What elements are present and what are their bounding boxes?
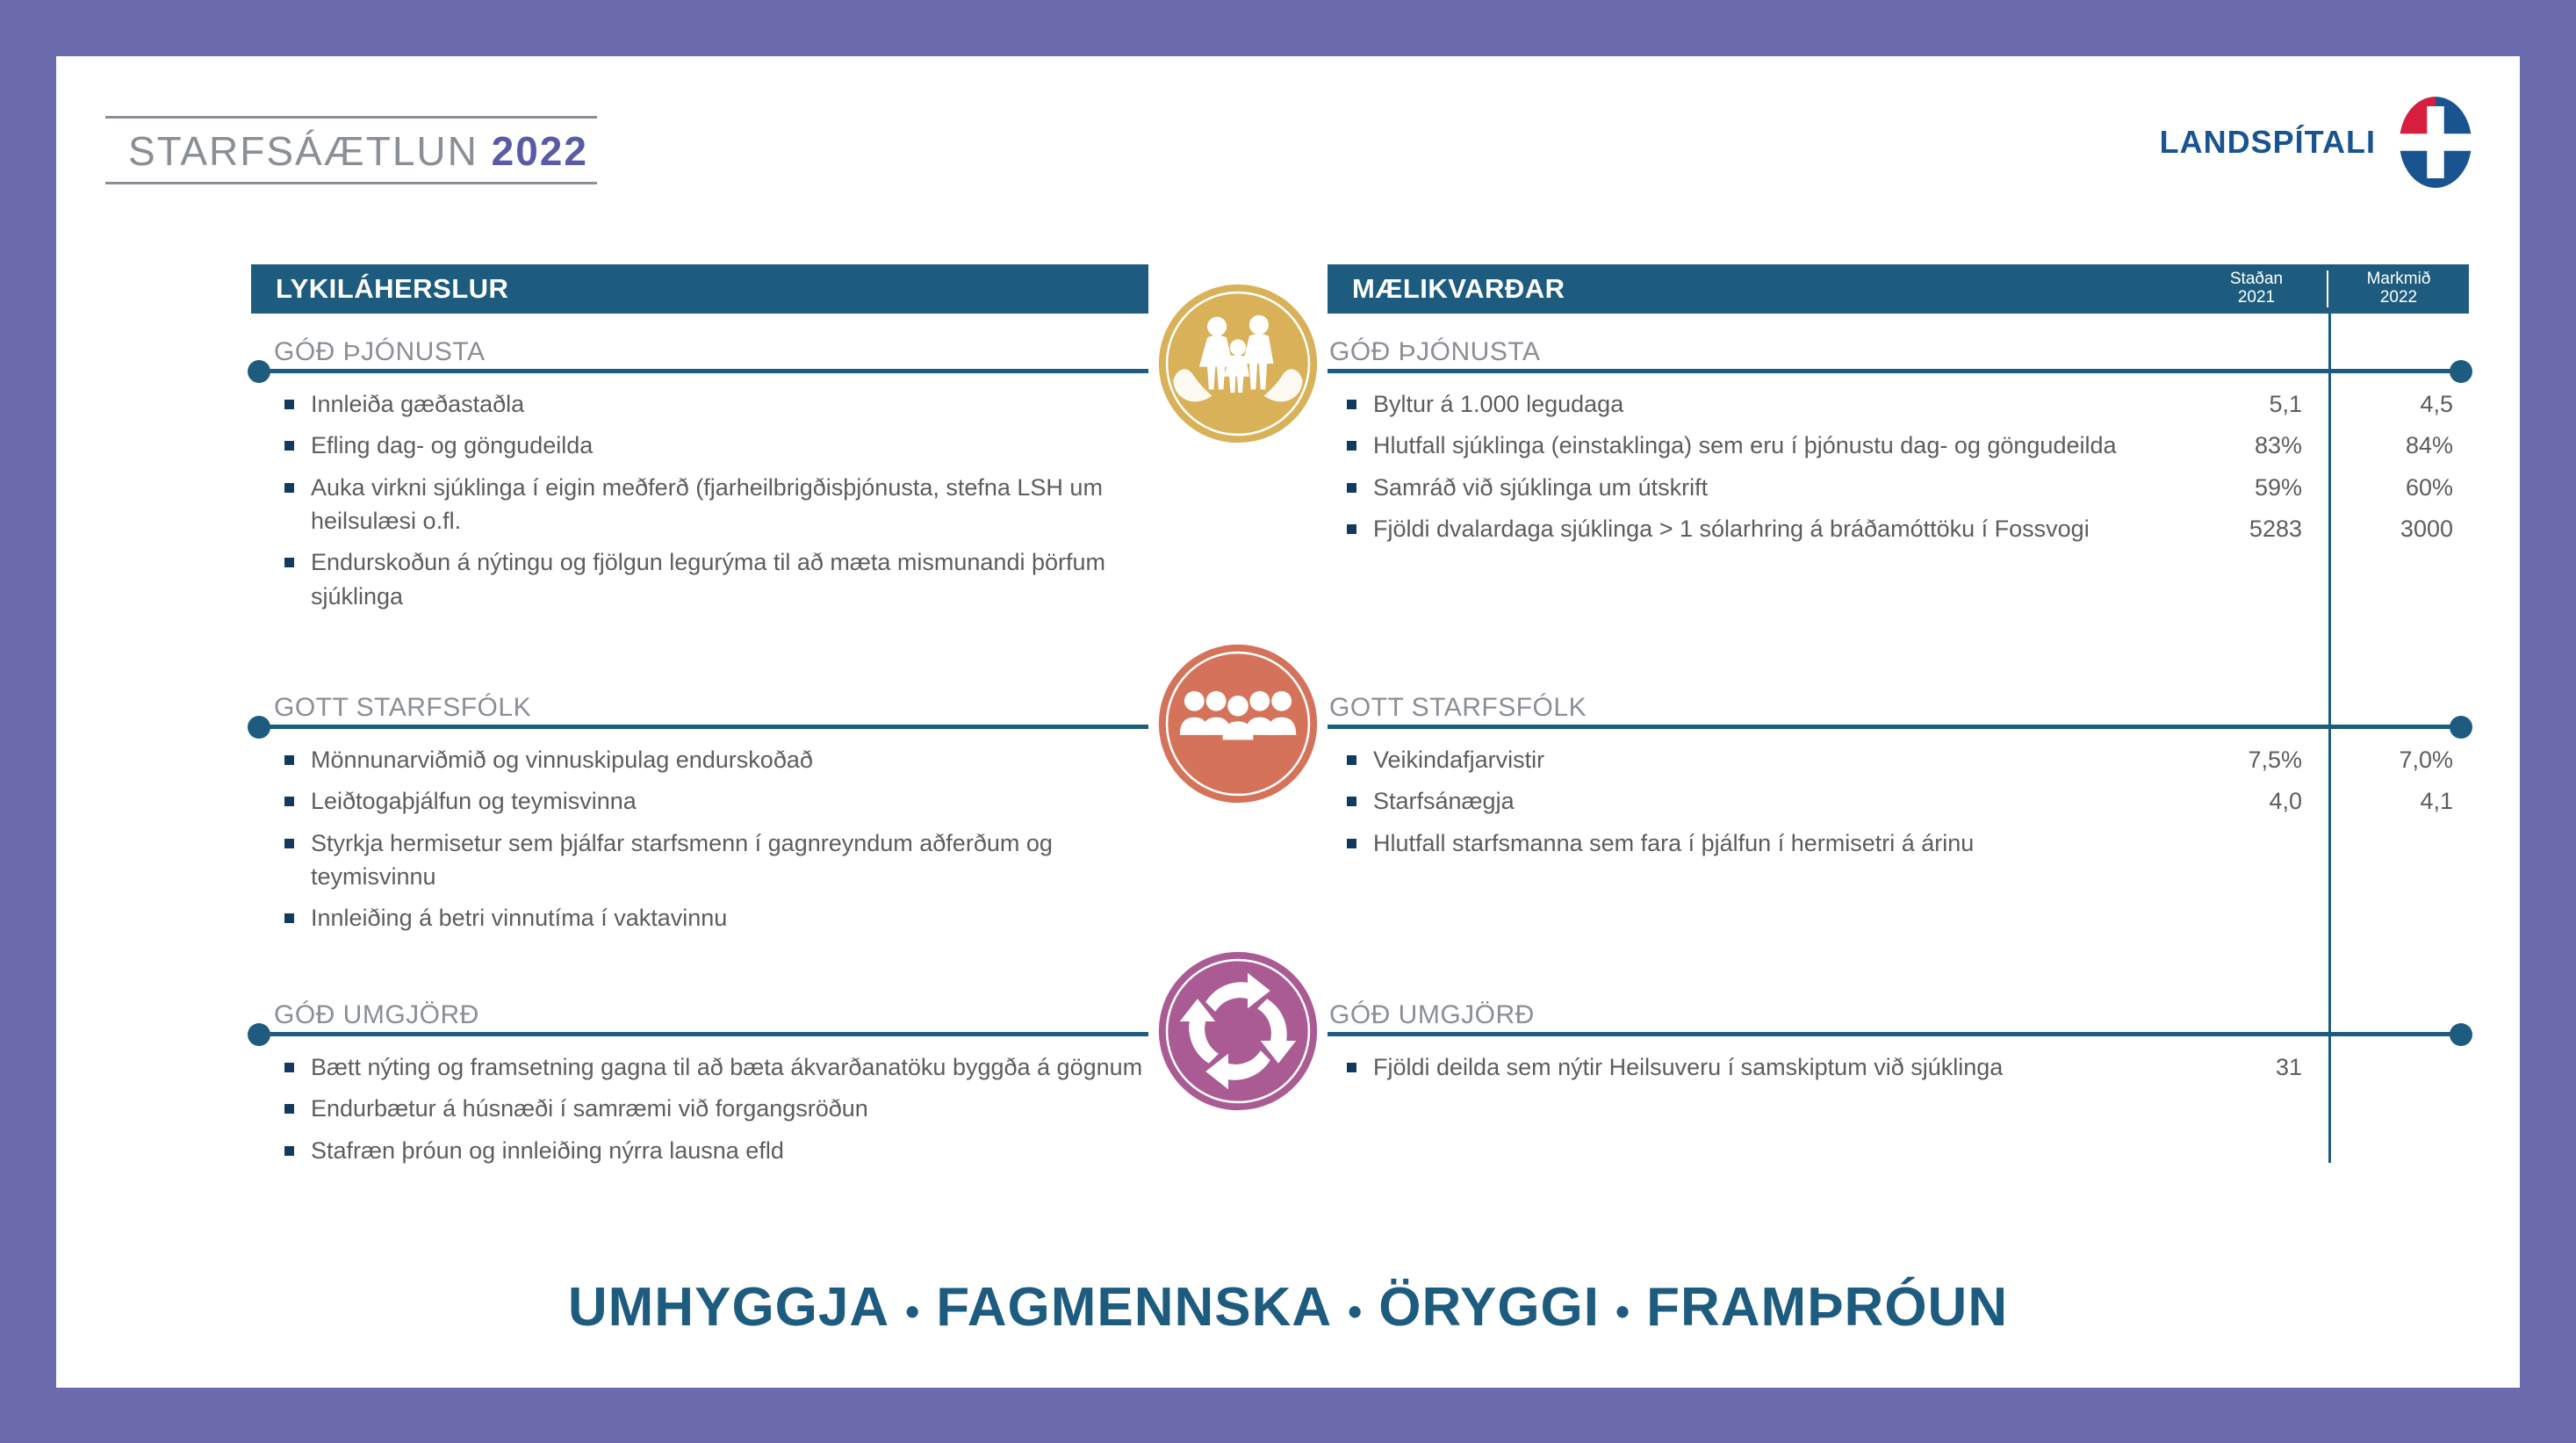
title-main-text: STARFSÁÆTLUN	[128, 128, 492, 174]
column-header-target-line2: 2022	[2328, 289, 2469, 307]
landspitali-cross-icon	[2388, 95, 2483, 190]
column-header-status-line2: 2021	[2186, 289, 2327, 307]
landspitali-logo: LANDSPÍTALI	[2160, 95, 2483, 190]
left-panel-header-bar: LYKILÁHERSLUR	[251, 264, 1148, 314]
list-item: Endurskoðun á nýtingu og fjölgun legurým…	[251, 545, 1148, 613]
metric-status-2021: 4,0	[2188, 784, 2302, 818]
section-rule	[1328, 369, 2469, 373]
logo-wordmark: LANDSPÍTALI	[2160, 124, 2376, 161]
left-section-heading: GOTT STARFSFÓLK	[251, 693, 1148, 723]
list-item: Mönnunarviðmið og vinnuskipulag endursko…	[251, 743, 1148, 776]
left-panel-title: LYKILÁHERSLUR	[251, 273, 1148, 305]
section-rule	[251, 1032, 1148, 1036]
column-header-status-line1: Staðan	[2186, 271, 2327, 289]
metric-status-2021: 31	[2188, 1050, 2302, 1084]
metric-target-2022: 7,0%	[2339, 743, 2453, 776]
metric-row: Hlutfall starfsmanna sem fara í þjálfun …	[1328, 826, 2469, 860]
slide-frame: STARFSÁÆTLUN 2022 LANDSPÍTALI LYKILÁHERS…	[0, 0, 2576, 1443]
rule-dot-right	[2450, 716, 2472, 739]
page-title: STARFSÁÆTLUN 2022	[105, 116, 597, 184]
left-section-good-service: GÓÐ ÞJÓNUSTA Innleiða gæðastaðla Efling …	[251, 337, 1148, 621]
metric-label: Fjöldi deilda sem nýtir Heilsuveru í sam…	[1373, 1054, 2003, 1080]
metric-target-2022: 60%	[2339, 471, 2453, 504]
metric-row: Fjöldi deilda sem nýtir Heilsuveru í sam…	[1328, 1050, 2469, 1084]
rule-dot-left	[248, 716, 270, 739]
value-word: ÖRYGGI	[1378, 1277, 1600, 1338]
slide-canvas: STARFSÁÆTLUN 2022 LANDSPÍTALI LYKILÁHERS…	[56, 56, 2520, 1388]
banner-separator: •	[889, 1288, 936, 1334]
metric-list: Byltur á 1.000 legudaga 5,1 4,5 Hlutfall…	[1328, 387, 2469, 545]
list-item: Leiðtogaþjálfun og teymisvinna	[251, 784, 1148, 818]
value-word: FAGMENNSKA	[936, 1277, 1332, 1338]
metric-target-2022: 4,1	[2339, 784, 2453, 818]
section-rule	[1328, 1032, 2469, 1036]
metric-status-2021: 7,5%	[2188, 743, 2302, 776]
left-item-list: Innleiða gæðastaðla Efling dag- og göngu…	[251, 387, 1148, 613]
banner-separator: •	[1332, 1288, 1378, 1334]
section-rule	[251, 725, 1148, 729]
metric-list: Fjöldi deilda sem nýtir Heilsuveru í sam…	[1328, 1050, 2469, 1084]
metric-label: Byltur á 1.000 legudaga	[1373, 391, 1623, 417]
metric-status-2021: 5283	[2188, 512, 2302, 545]
right-section-heading: GÓÐ ÞJÓNUSTA	[1328, 337, 2469, 367]
metric-status-2021: 59%	[2188, 471, 2302, 504]
metric-target-2022: 3000	[2339, 512, 2453, 545]
metric-label: Starfsánægja	[1373, 788, 1515, 814]
metric-label: Hlutfall sjúklinga (einstaklinga) sem er…	[1373, 432, 2117, 458]
rule-dot-left	[248, 1023, 270, 1046]
section-rule	[251, 369, 1148, 373]
column-header-status: Staðan 2021	[2186, 271, 2327, 307]
metric-label: Veikindafjarvistir	[1373, 747, 1544, 773]
right-panel-header-bar: MÆLIKVARÐAR Staðan 2021 Markmið 2022	[1328, 264, 2469, 314]
family-in-hands-icon	[1157, 283, 1319, 444]
right-section-heading: GOTT STARFSFÓLK	[1328, 693, 2469, 723]
cycle-arrows-badge	[1152, 945, 1324, 1117]
left-item-list: Mönnunarviðmið og vinnuskipulag endursko…	[251, 743, 1148, 935]
column-header-target: Markmið 2022	[2327, 271, 2469, 307]
left-item-list: Bætt nýting og framsetning gagna til að …	[251, 1050, 1148, 1167]
left-section-good-staff: GOTT STARFSFÓLK Mönnunarviðmið og vinnus…	[251, 693, 1148, 943]
metric-status-2021: 83%	[2188, 429, 2302, 462]
metric-row: Samráð við sjúklinga um útskrift 59% 60%	[1328, 471, 2469, 504]
metric-row: Byltur á 1.000 legudaga 5,1 4,5	[1328, 387, 2469, 421]
list-item: Efling dag- og göngudeilda	[251, 429, 1148, 462]
right-section-good-environment: GÓÐ UMGJÖRÐ Fjöldi deilda sem nýtir Heil…	[1328, 1000, 2469, 1092]
section-rule	[1328, 725, 2469, 729]
metric-row: Starfsánægja 4,0 4,1	[1328, 784, 2469, 818]
list-item: Stafræn þróun og innleiðing nýrra lausna…	[251, 1134, 1148, 1167]
right-section-heading: GÓÐ UMGJÖRÐ	[1328, 1000, 2469, 1030]
column-header-target-line1: Markmið	[2328, 271, 2469, 289]
values-banner: UMHYGGJA•FAGMENNSKA•ÖRYGGI•FRAMÞRÓUN	[56, 1276, 2520, 1338]
rule-dot-right	[2450, 1023, 2472, 1046]
rule-dot-left	[248, 360, 270, 383]
list-item: Innleiða gæðastaðla	[251, 387, 1148, 421]
banner-separator: •	[1600, 1288, 1646, 1334]
metric-row: Fjöldi dvalardaga sjúklinga > 1 sólarhri…	[1328, 512, 2469, 545]
rule-dot-right	[2450, 360, 2472, 383]
people-group-badge	[1152, 638, 1324, 810]
metric-label: Hlutfall starfsmanna sem fara í þjálfun …	[1373, 830, 1974, 856]
right-section-good-service: GÓÐ ÞJÓNUSTA Byltur á 1.000 legudaga 5,1…	[1328, 337, 2469, 553]
people-group-icon	[1157, 643, 1319, 804]
cycle-arrows-icon	[1157, 950, 1319, 1112]
metric-row: Veikindafjarvistir 7,5% 7,0%	[1328, 743, 2469, 776]
right-section-good-staff: GOTT STARFSFÓLK Veikindafjarvistir 7,5% …	[1328, 693, 2469, 868]
list-item: Auka virkni sjúklinga í eigin meðferð (f…	[251, 471, 1148, 538]
left-section-heading: GÓÐ ÞJÓNUSTA	[251, 337, 1148, 367]
metric-list: Veikindafjarvistir 7,5% 7,0% Starfsánægj…	[1328, 743, 2469, 860]
metric-row: Hlutfall sjúklinga (einstaklinga) sem er…	[1328, 429, 2469, 462]
metric-label: Samráð við sjúklinga um útskrift	[1373, 474, 1708, 501]
list-item: Bætt nýting og framsetning gagna til að …	[251, 1050, 1148, 1084]
right-panel-title: MÆLIKVARÐAR	[1328, 273, 2186, 305]
list-item: Innleiðing á betri vinnutíma í vaktavinn…	[251, 901, 1148, 934]
list-item: Endurbætur á húsnæði í samræmi við forga…	[251, 1092, 1148, 1125]
metric-status-2021: 5,1	[2188, 387, 2302, 421]
title-year-text: 2022	[492, 128, 588, 174]
list-item: Styrkja hermisetur sem þjálfar starfsmen…	[251, 826, 1148, 894]
metric-target-2022: 84%	[2339, 429, 2453, 462]
metric-label: Fjöldi dvalardaga sjúklinga > 1 sólarhri…	[1373, 516, 2090, 542]
title-rule-bottom	[105, 182, 597, 184]
family-in-hands-badge	[1152, 278, 1324, 450]
value-word: FRAMÞRÓUN	[1646, 1277, 2008, 1338]
left-section-heading: GÓÐ UMGJÖRÐ	[251, 1000, 1148, 1030]
left-section-good-environment: GÓÐ UMGJÖRÐ Bætt nýting og framsetning g…	[251, 1000, 1148, 1175]
value-word: UMHYGGJA	[568, 1277, 889, 1338]
metric-target-2022: 4,5	[2339, 387, 2453, 421]
